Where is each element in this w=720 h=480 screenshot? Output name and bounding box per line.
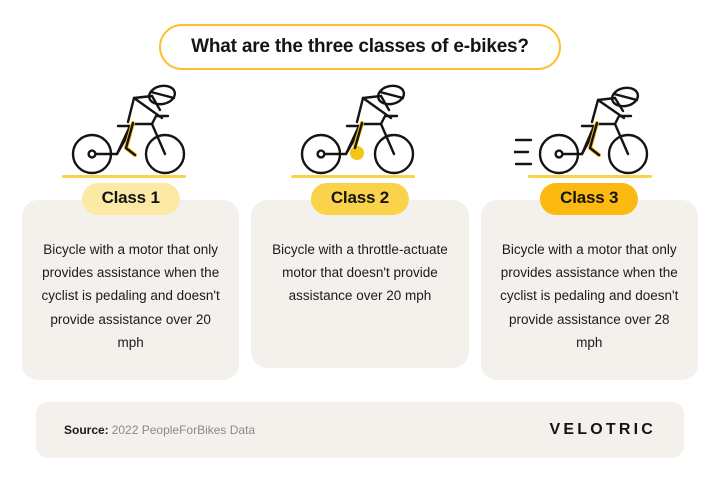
infographic-root: What are the three classes of e-bikes? <box>0 0 720 480</box>
class-column-1: Class 1 Bicycle with a motor that only p… <box>22 78 239 380</box>
cyclist-throttle-icon <box>285 78 435 182</box>
class-badge-label-2: Class 2 <box>331 188 389 207</box>
class-card-2: Bicycle with a throttle-actuate motor th… <box>251 200 468 368</box>
speed-lines-icon <box>514 140 531 164</box>
illustration-area-3 <box>481 78 698 182</box>
illustration-area-2 <box>251 78 468 182</box>
class-columns: Class 1 Bicycle with a motor that only p… <box>22 78 698 380</box>
cyclist-pedaling-icon <box>56 78 206 182</box>
source-attribution: Source:2022 PeopleForBikes Data <box>64 423 255 437</box>
class-badge-3: Class 3 <box>540 183 638 215</box>
title-pill: What are the three classes of e-bikes? <box>159 24 561 70</box>
class-badge-label-1: Class 1 <box>102 188 160 207</box>
class-card-wrap-2: Class 2 Bicycle with a throttle-actuate … <box>251 200 468 368</box>
ground-line <box>291 175 415 178</box>
class-column-2: Class 2 Bicycle with a throttle-actuate … <box>251 78 468 380</box>
class-description-2: Bicycle with a throttle-actuate motor th… <box>267 238 452 308</box>
ground-line <box>62 175 186 178</box>
footer-bar: Source:2022 PeopleForBikes Data VELOTRIC <box>36 402 684 458</box>
ground-line <box>528 175 652 178</box>
class-card-3: Bicycle with a motor that only provides … <box>481 200 698 380</box>
source-value: 2022 PeopleForBikes Data <box>112 423 255 437</box>
cyclist-speeding-icon <box>514 78 664 182</box>
class-badge-label-3: Class 3 <box>560 188 618 207</box>
class-badge-2: Class 2 <box>311 183 409 215</box>
class-card-wrap-1: Class 1 Bicycle with a motor that only p… <box>22 200 239 380</box>
illustration-area-1 <box>22 78 239 182</box>
title-container: What are the three classes of e-bikes? <box>0 24 720 70</box>
class-card-wrap-3: Class 3 Bicycle with a motor that only p… <box>481 200 698 380</box>
class-description-1: Bicycle with a motor that only provides … <box>38 238 223 354</box>
brand-logo: VELOTRIC <box>550 421 657 439</box>
class-description-3: Bicycle with a motor that only provides … <box>497 238 682 354</box>
throttle-dot <box>350 146 364 160</box>
class-column-3: Class 3 Bicycle with a motor that only p… <box>481 78 698 380</box>
class-card-1: Bicycle with a motor that only provides … <box>22 200 239 380</box>
page-title: What are the three classes of e-bikes? <box>191 37 529 56</box>
source-label: Source: <box>64 423 109 437</box>
class-badge-1: Class 1 <box>82 183 180 215</box>
